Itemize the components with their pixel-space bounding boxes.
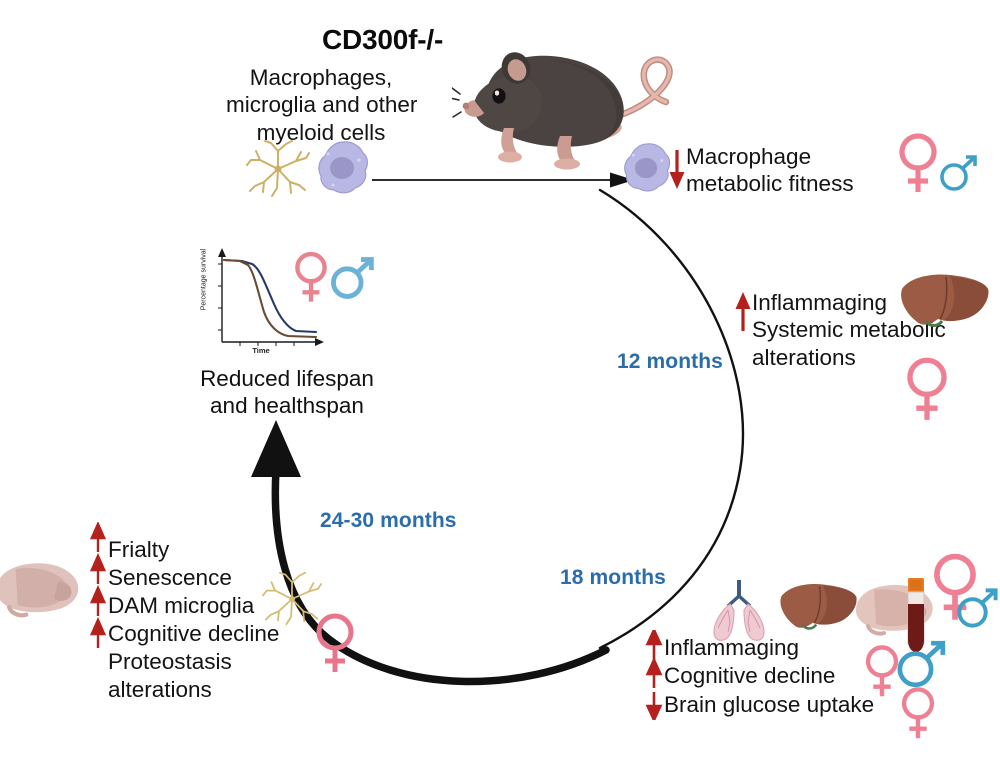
subtitle-myeloid-cells: Macrophages, microglia and other myeloid…	[226, 64, 416, 146]
myeloid-to-macrophage-arrow-icon	[372, 173, 634, 188]
liver-icon	[776, 578, 858, 638]
female-symbol-icon	[898, 132, 938, 194]
male-symbol-icon	[939, 152, 979, 194]
female-symbol-icon	[294, 250, 328, 304]
24-30-months-findings-label: Frialty Senescence DAM microglia Cogniti…	[108, 536, 279, 704]
macrophage-fitness-label: Macrophage metabolic fitness	[686, 143, 854, 198]
18-months-findings-label: Inflammaging Cognitive decline Brain glu…	[664, 634, 874, 719]
female-symbol-icon	[905, 356, 949, 422]
label-24-30-months: 24-30 months	[320, 509, 457, 533]
label-12-months: 12 months	[617, 350, 723, 374]
label-18-months: 18 months	[560, 566, 666, 590]
male-symbol-icon	[330, 252, 376, 304]
chart-x-axis-label: Time	[226, 346, 296, 355]
microglia-icon	[246, 138, 310, 200]
down-arrow-icon	[668, 148, 686, 190]
arrow-stack-24-30-months-icon	[88, 522, 108, 648]
male-symbol-icon	[956, 584, 1000, 632]
liver-icon	[896, 271, 990, 333]
female-symbol-icon	[864, 644, 900, 698]
page-title: CD300f-/-	[322, 24, 443, 56]
arrow-stack-18-months-icon	[644, 630, 664, 720]
cd300f-aging-cycle-diagram: CD300f-/- Macrophages, microglia and oth…	[0, 0, 1000, 761]
chart-y-axis-label: Percentage survival	[201, 242, 208, 318]
female-symbol-icon	[900, 686, 936, 740]
microglia-icon	[262, 570, 322, 628]
up-arrow-icon	[734, 291, 752, 333]
macrophage-cell-icon	[622, 142, 672, 194]
female-symbol-icon	[314, 612, 356, 674]
reduced-lifespan-caption: Reduced lifespan and healthspan	[182, 365, 392, 419]
brain-icon	[0, 558, 84, 620]
macrophage-cell-icon	[316, 140, 370, 196]
male-symbol-icon	[896, 636, 948, 692]
cycle-arrowhead-icon	[251, 420, 301, 477]
